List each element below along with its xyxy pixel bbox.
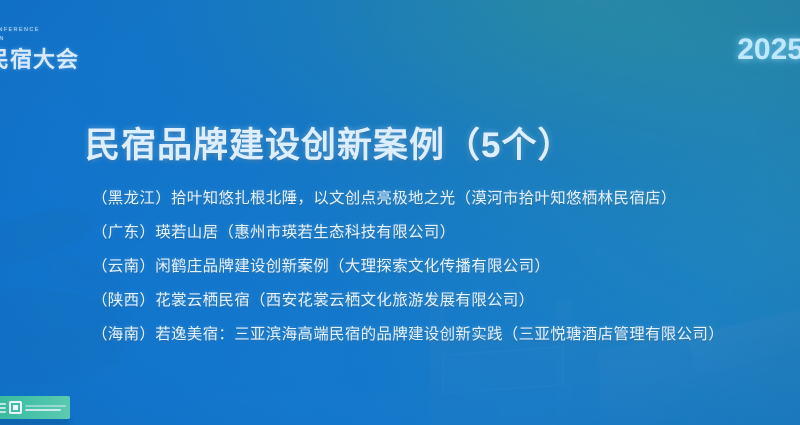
list-item: （广东）瑛若山居（惠州市瑛若生态科技有限公司） xyxy=(92,216,782,250)
list-item: （海南）若逸美宿：三亚滨海高端民宿的品牌建设创新实践（三亚悦瑭酒店管理有限公司） xyxy=(92,318,782,352)
watermark-badge xyxy=(0,396,70,419)
watermark-badge-shadow xyxy=(0,419,70,425)
badge-label-lines xyxy=(25,405,66,411)
year-label: 2025 xyxy=(737,33,800,67)
logo-chinese-title: 国民宿大会 xyxy=(0,47,114,73)
document-mark-icon xyxy=(9,401,22,414)
logo-english-line-2: ESTAY INN xyxy=(0,35,114,44)
list-item: （云南）闲鹤庄品牌建设创新案例（大理探索文化传播有限公司） xyxy=(92,250,782,284)
conference-logo: ONAL CONFERENCE ESTAY INN 国民宿大会 xyxy=(0,26,114,73)
presentation-slide: ONAL CONFERENCE ESTAY INN 国民宿大会 2025 民宿品… xyxy=(0,0,800,425)
page-title: 民宿品牌建设创新案例（5个） xyxy=(85,117,573,168)
case-list: （黑龙江）拾叶知悠扎根北陲，以文创点亮极地之光（漠河市拾叶知悠栖林民宿店） （广… xyxy=(92,182,782,352)
badge-bars-icon xyxy=(0,403,6,413)
list-item: （陕西）花裳云栖民宿（西安花裳云栖文化旅游发展有限公司） xyxy=(92,284,782,318)
logo-english-line-1: ONAL CONFERENCE xyxy=(0,26,114,35)
list-item: （黑龙江）拾叶知悠扎根北陲，以文创点亮极地之光（漠河市拾叶知悠栖林民宿店） xyxy=(92,182,782,216)
